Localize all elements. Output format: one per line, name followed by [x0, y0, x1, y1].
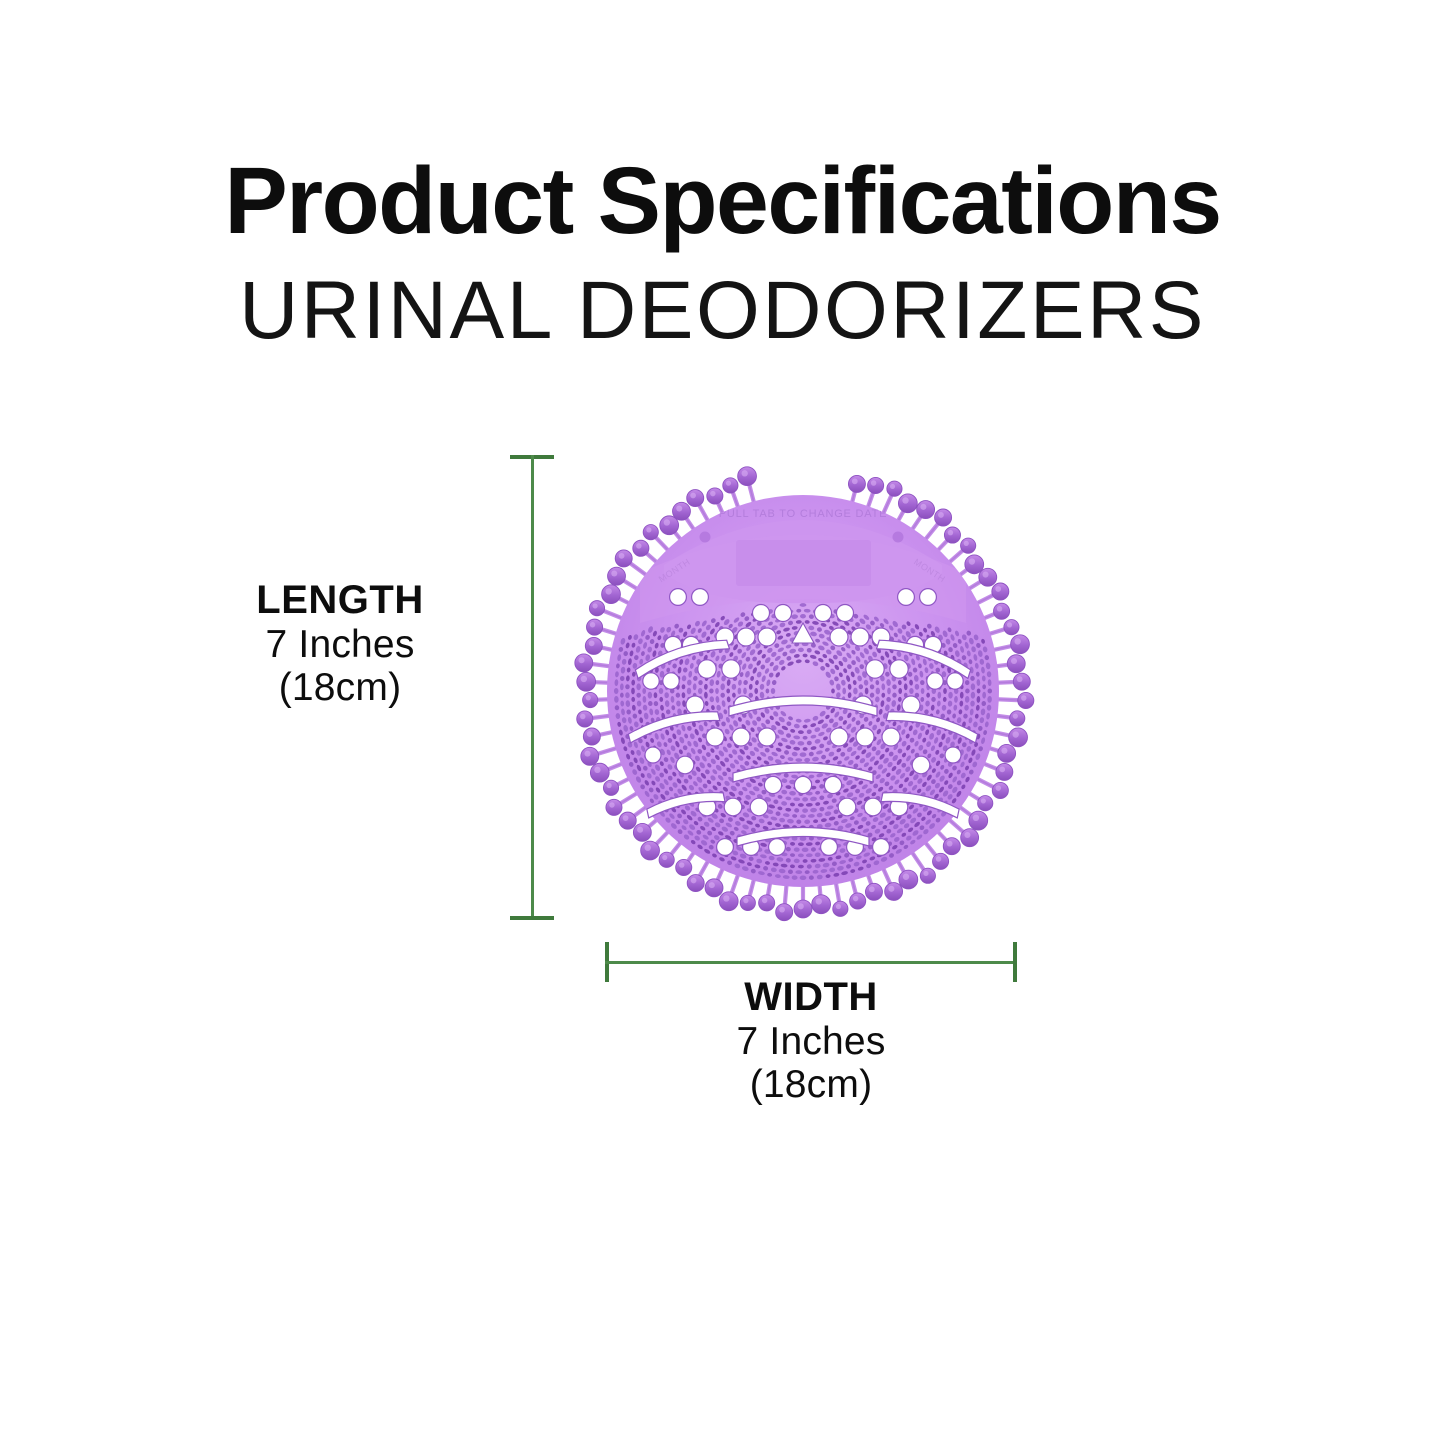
- length-label-group: LENGTH 7 Inches (18cm): [180, 578, 500, 710]
- width-guide-right-cap: [1013, 942, 1017, 982]
- length-guide-bottom-cap: [510, 916, 554, 920]
- length-label-name: LENGTH: [180, 578, 500, 623]
- length-guide-line: [531, 455, 534, 920]
- width-label-metric: (18cm): [650, 1063, 972, 1107]
- product-specifications-page: Product Specifications URINAL DEODORIZER…: [0, 0, 1445, 1445]
- page-title: Product Specifications: [0, 152, 1445, 251]
- page-subtitle: URINAL DEODORIZERS: [0, 263, 1445, 360]
- width-label-group: WIDTH 7 Inches (18cm): [650, 975, 972, 1107]
- date-peg-left: [700, 532, 711, 543]
- embossed-top-text: PULL TAB TO CHANGE DATE: [719, 508, 888, 520]
- heading-block: Product Specifications URINAL DEODORIZER…: [0, 152, 1445, 360]
- length-label-metric: (18cm): [180, 666, 500, 710]
- width-label-name: WIDTH: [650, 975, 972, 1020]
- date-peg-right: [893, 532, 904, 543]
- width-guide-line: [605, 961, 1017, 964]
- length-dimension-guide: [529, 455, 535, 920]
- date-window: [736, 540, 871, 586]
- length-label-value: 7 Inches: [180, 623, 500, 667]
- width-label-value: 7 Inches: [650, 1020, 972, 1064]
- urinal-screen-illustration: PULL TAB TO CHANGE DATE MONTH MONTH: [568, 455, 1038, 923]
- product-image: PULL TAB TO CHANGE DATE MONTH MONTH: [568, 455, 1038, 923]
- width-dimension-guide: [605, 959, 1017, 965]
